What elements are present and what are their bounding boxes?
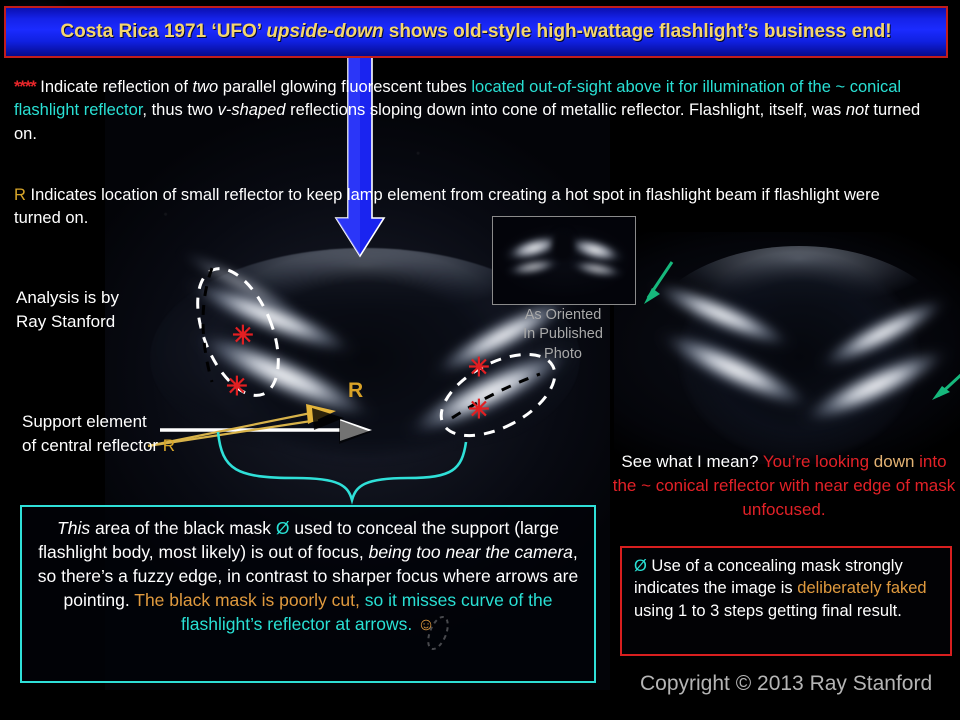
analysis-credit: Analysis is by Ray Stanford	[16, 286, 119, 334]
fake-seg2: using 1 to 3 steps getting final result.	[634, 602, 902, 620]
inset-caption: As Oriented In Published Photo	[492, 306, 634, 364]
support-line-1: Support element	[22, 410, 175, 434]
support-line-2: of central reflector R	[22, 434, 175, 458]
mask-seg-end: .	[407, 614, 417, 634]
p1-italic-vshaped: v-shaped	[218, 101, 286, 119]
asterisk-marker: ****	[14, 78, 36, 96]
support-line-2-pre: of central reflector	[22, 436, 163, 455]
see-what-i-mean-text: See what I mean? You’re looking down int…	[612, 450, 956, 522]
center-r-label: R	[348, 379, 363, 403]
p1-seg4: reflections sloping down into cone of me…	[286, 101, 846, 119]
title-pre: Costa Rica 1971 ‘UFO’	[60, 21, 266, 42]
see-tan-down: down	[874, 452, 915, 471]
title-italic: upside-down	[266, 21, 383, 42]
copyright-notice: Copyright © 2013 Ray Stanford	[640, 672, 932, 696]
support-element-label: Support element of central reflector R	[22, 410, 175, 458]
mask-phi-symbol: Ø	[276, 518, 290, 538]
red-asterisk-3: ✳	[468, 354, 490, 380]
support-line-2-r: R	[163, 436, 175, 455]
see-red-1: You’re looking	[763, 452, 874, 471]
analysis-line-1: Analysis is by	[16, 286, 119, 310]
inset-caption-line-3: Photo	[492, 345, 634, 364]
p2-text: Indicates location of small reflector to…	[14, 186, 880, 227]
p1-seg1: Indicate reflection of	[36, 78, 193, 96]
paragraph-r-explanation: R Indicates location of small reflector …	[14, 184, 930, 231]
title-post: shows old-style high-wattage flashlight’…	[383, 21, 891, 42]
inset-dark-notch	[553, 231, 573, 261]
paragraph-asterisk-explanation: **** Indicate reflection of two parallel…	[14, 76, 930, 146]
red-asterisk-2: ✳	[226, 373, 248, 399]
p1-seg2: parallel glowing fluorescent tubes	[218, 78, 471, 96]
mask-italic-camera: being too near the camera	[369, 542, 573, 562]
fake-orange-clause: deliberately faked	[797, 579, 926, 597]
title-banner: Costa Rica 1971 ‘UFO’ upside-down shows …	[4, 6, 948, 58]
mask-seg1: area of the black mask	[90, 518, 276, 538]
mask-italic-this: This	[57, 518, 90, 538]
slide-canvas: Costa Rica 1971 ‘UFO’ upside-down shows …	[0, 0, 960, 720]
r-marker: R	[14, 186, 26, 204]
black-mask-callout-box: This area of the black mask Ø used to co…	[20, 505, 596, 683]
p1-seg3: , thus two	[142, 101, 217, 119]
p1-italic-two: two	[193, 78, 219, 96]
inset-caption-line-1: As Oriented	[492, 306, 634, 325]
title-text: Costa Rica 1971 ‘UFO’ upside-down shows …	[60, 21, 891, 43]
deliberately-faked-box: Ø Use of a concealing mask strongly indi…	[620, 546, 952, 656]
p1-italic-not: not	[846, 101, 869, 119]
red-asterisk-1: ✳	[232, 322, 254, 348]
fake-phi-symbol: Ø	[634, 557, 647, 575]
inset-caption-line-2: In Published	[492, 325, 634, 344]
see-white: See what I mean?	[621, 452, 762, 471]
mask-orange-clause: The black mask is poorly cut,	[134, 590, 360, 610]
analysis-line-2: Ray Stanford	[16, 310, 119, 334]
smiley-icon: ☺	[417, 614, 435, 634]
red-asterisk-4: ✳	[468, 396, 490, 422]
